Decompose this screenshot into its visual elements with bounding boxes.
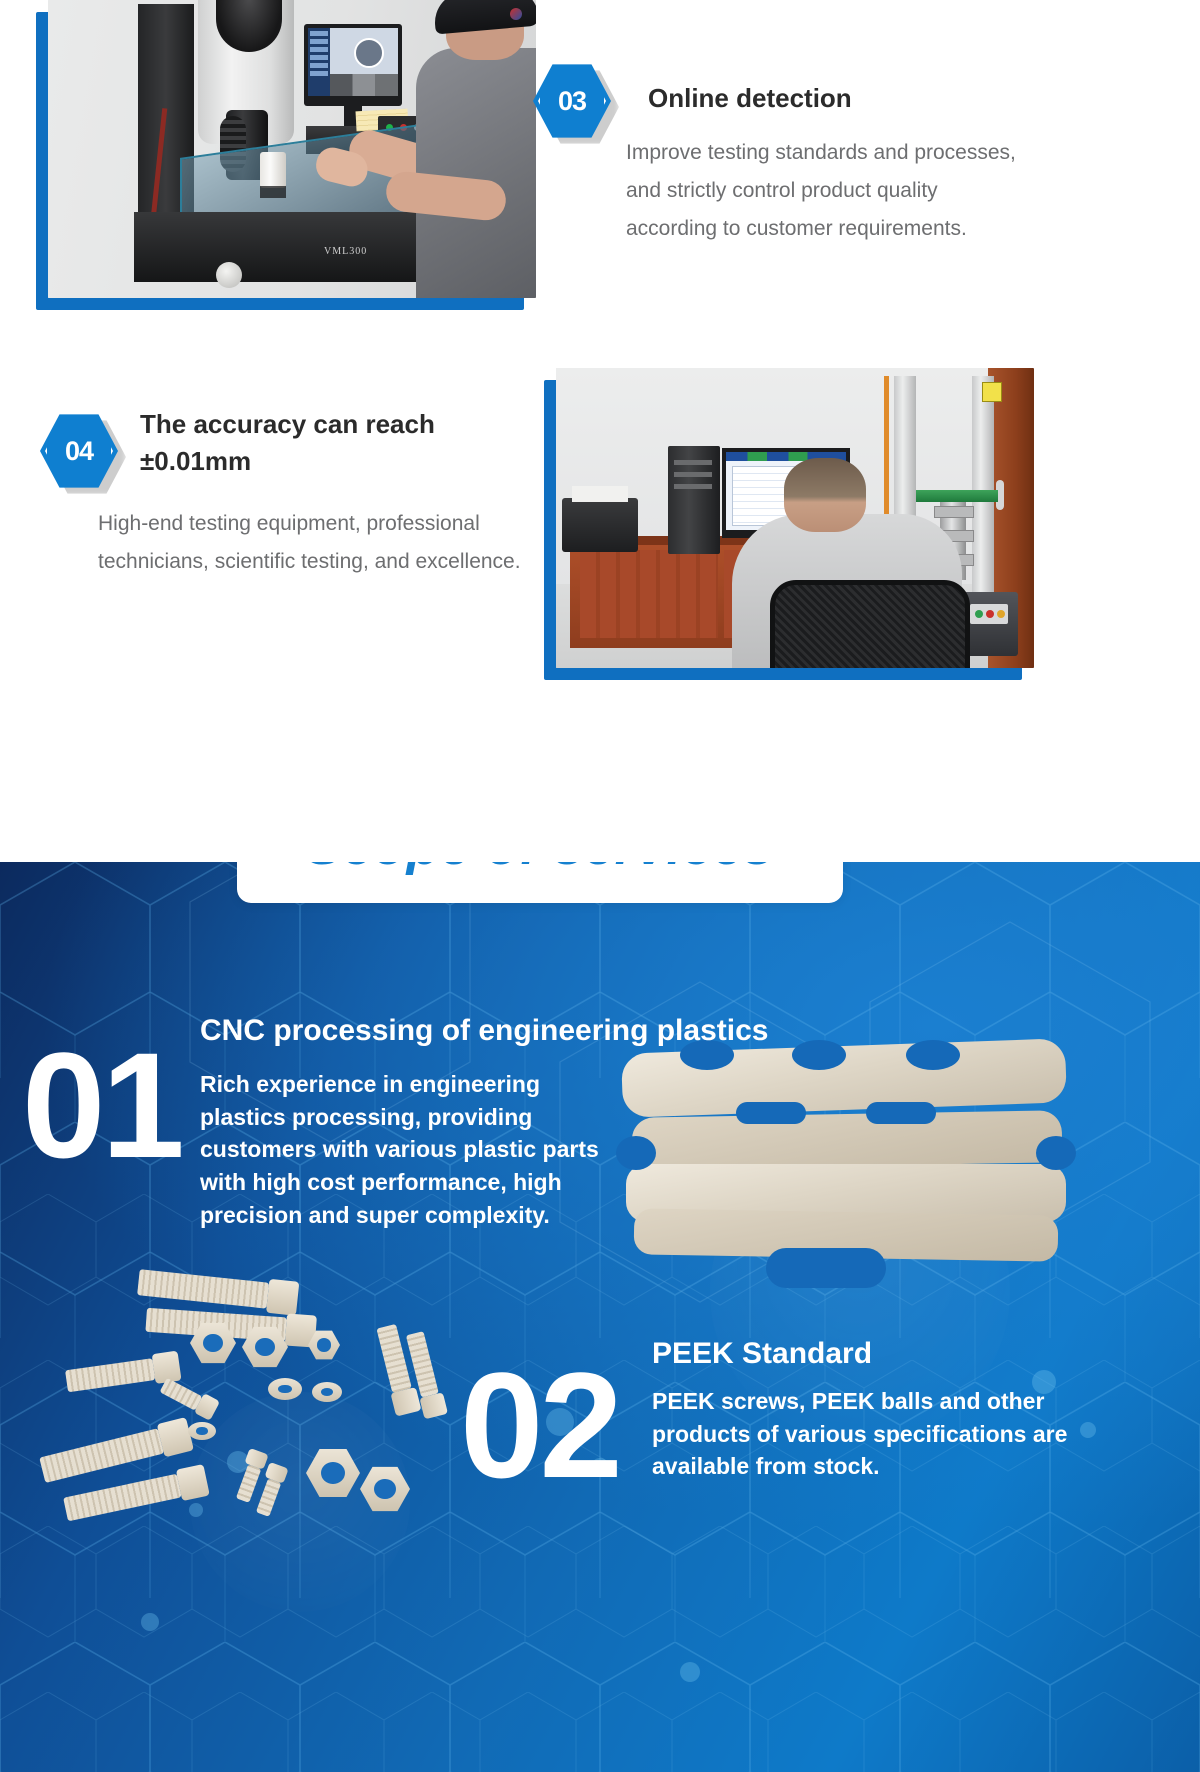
quality-control-section: VML300 03 Online detection Improve testi: [0, 0, 1200, 862]
photo-inner: [556, 368, 1034, 668]
service-body-02: PEEK screws, PEEK balls and other produc…: [652, 1385, 1072, 1483]
product-detail-page: VML300 03 Online detection Improve testi: [0, 0, 1200, 1772]
service-title-01: CNC processing of engineering plastics: [200, 1012, 960, 1050]
feature-body-03: Improve testing standards and processes,…: [626, 134, 1016, 249]
service-number-01: 01: [22, 1030, 181, 1180]
feature-body-04: High-end testing equipment, professional…: [98, 505, 528, 581]
scope-banner-card: Scope of services: [237, 862, 843, 903]
peek-machined-parts-photo: [616, 1040, 1072, 1274]
badge-number-04: 04: [40, 412, 118, 490]
scope-of-services-section: Scope of services 01 CNC processing of e…: [0, 862, 1200, 1772]
optical-measuring-machine-scene: VML300: [48, 0, 536, 298]
service-body-01: Rich experience in engineering plastics …: [200, 1068, 620, 1231]
scope-banner-title: Scope of services: [306, 862, 774, 877]
measurement-monitor: [304, 24, 402, 106]
service-number-02: 02: [460, 1350, 619, 1500]
feature-badge-03: 03: [533, 62, 611, 140]
tensile-testing-lab-scene: [556, 368, 1034, 668]
feature-badge-04: 04: [40, 412, 118, 490]
accuracy-testing-photo: [544, 380, 1022, 680]
feature-title-04: The accuracy can reach ±0.01mm: [140, 406, 520, 480]
photo-inner: VML300: [48, 0, 536, 298]
feature-title-03: Online detection: [648, 80, 1018, 117]
badge-number-03: 03: [533, 62, 611, 140]
service-title-02: PEEK Standard: [652, 1335, 1082, 1373]
online-detection-photo: VML300: [36, 12, 524, 310]
machine-model-label: VML300: [324, 246, 367, 257]
peek-fasteners-photo: [30, 1270, 460, 1540]
